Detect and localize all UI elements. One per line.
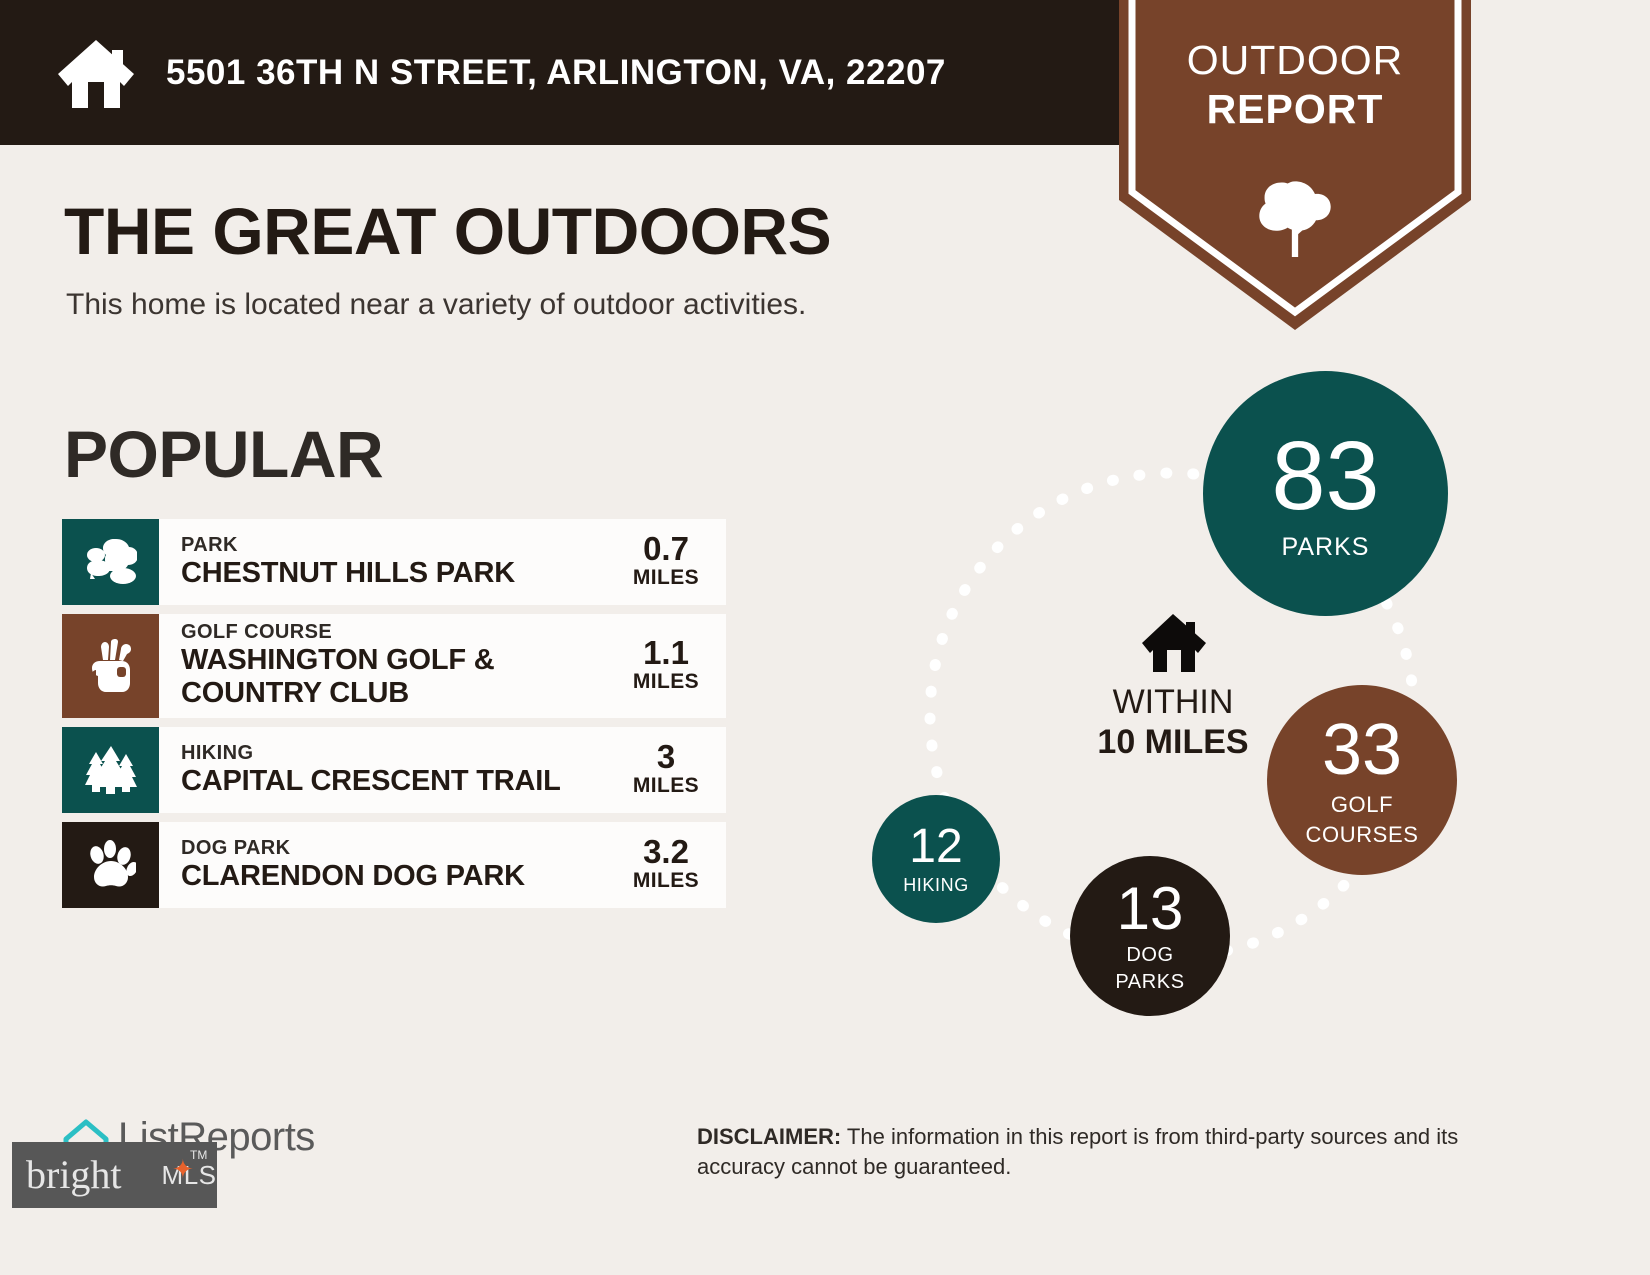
bright-mls-logo[interactable]: bright ✦ TM MLS bbox=[12, 1142, 217, 1208]
list-item-icon-tile bbox=[62, 822, 159, 908]
list-item-category: GOLF COURSE bbox=[181, 620, 618, 644]
bubble-golf-label-1: GOLF bbox=[1331, 793, 1393, 816]
list-item-icon-tile bbox=[62, 614, 159, 718]
bubble-dog-value: 13 bbox=[1117, 879, 1184, 939]
list-item-distance-value: 3.2 bbox=[618, 835, 714, 869]
list-item-text: DOG PARK CLARENDON DOG PARK bbox=[181, 836, 618, 893]
list-item-distance-unit: MILES bbox=[618, 670, 714, 694]
list-item-category: PARK bbox=[181, 533, 618, 557]
list-item-name: CAPITAL CRESCENT TRAIL bbox=[181, 765, 618, 798]
paw-print-icon bbox=[86, 840, 136, 890]
bubble-hiking-value: 12 bbox=[909, 823, 962, 871]
list-item-name: CLARENDON DOG PARK bbox=[181, 860, 618, 893]
list-item-distance-value: 1.1 bbox=[618, 636, 714, 670]
list-item-distance-unit: MILES bbox=[618, 774, 714, 798]
list-item-distance-value: 3 bbox=[618, 740, 714, 774]
list-item[interactable]: HIKING CAPITAL CRESCENT TRAIL 3 MILES bbox=[62, 727, 726, 813]
list-item-body: DOG PARK CLARENDON DOG PARK 3.2 MILES bbox=[159, 822, 726, 908]
chart-center: WITHIN 10 MILES bbox=[1028, 610, 1318, 762]
list-item-name: WASHINGTON GOLF & COUNTRY CLUB bbox=[181, 644, 618, 710]
within-10-miles-bubble-chart: 83 PARKS 33 GOLF COURSES 13 DOG PARKS 12… bbox=[820, 360, 1520, 1060]
disclaimer: DISCLAIMER: The information in this repo… bbox=[697, 1122, 1517, 1182]
bubble-golf-label-2: COURSES bbox=[1306, 823, 1419, 846]
property-address: 5501 36TH N STREET, ARLINGTON, VA, 22207 bbox=[166, 53, 946, 93]
list-item-distance-unit: MILES bbox=[618, 566, 714, 590]
page-title: THE GREAT OUTDOORS bbox=[64, 193, 831, 269]
bubble-parks-label: PARKS bbox=[1282, 534, 1370, 560]
list-item[interactable]: DOG PARK CLARENDON DOG PARK 3.2 MILES bbox=[62, 822, 726, 908]
list-item-distance-unit: MILES bbox=[618, 869, 714, 893]
bubble-parks-value: 83 bbox=[1272, 427, 1380, 524]
list-item-distance: 1.1 MILES bbox=[618, 636, 722, 694]
bubble-dog-label-2: PARKS bbox=[1115, 972, 1184, 993]
pine-trees-icon bbox=[84, 746, 138, 794]
list-item-text: GOLF COURSE WASHINGTON GOLF & COUNTRY CL… bbox=[181, 620, 618, 710]
home-icon bbox=[58, 36, 134, 110]
popular-list: PARK CHESTNUT HILLS PARK 0.7 MILES bbox=[62, 519, 726, 917]
list-item-body: PARK CHESTNUT HILLS PARK 0.7 MILES bbox=[159, 519, 726, 605]
home-icon bbox=[1028, 610, 1318, 674]
golf-bag-icon bbox=[87, 639, 135, 693]
list-item-distance: 3.2 MILES bbox=[618, 835, 722, 893]
outdoor-report-badge: OUTDOOR REPORT bbox=[1119, 0, 1471, 330]
bubble-parks: 83 PARKS bbox=[1203, 371, 1448, 616]
list-item-category: HIKING bbox=[181, 741, 618, 765]
badge-text: OUTDOOR REPORT bbox=[1119, 36, 1471, 134]
chart-center-line-2: 10 MILES bbox=[1028, 722, 1318, 762]
outdoor-report-page: 5501 36TH N STREET, ARLINGTON, VA, 22207… bbox=[0, 0, 1650, 1275]
bubble-dog-label-1: DOG bbox=[1126, 945, 1173, 966]
popular-heading: POPULAR bbox=[64, 416, 383, 492]
list-item[interactable]: PARK CHESTNUT HILLS PARK 0.7 MILES bbox=[62, 519, 726, 605]
list-item-icon-tile bbox=[62, 727, 159, 813]
bright-wordmark: bright bbox=[26, 1155, 122, 1195]
list-item-text: PARK CHESTNUT HILLS PARK bbox=[181, 533, 618, 590]
list-item-distance: 3 MILES bbox=[618, 740, 722, 798]
list-item-body: GOLF COURSE WASHINGTON GOLF & COUNTRY CL… bbox=[159, 614, 726, 718]
list-item-distance-value: 0.7 bbox=[618, 532, 714, 566]
bubble-golf-value: 33 bbox=[1322, 714, 1402, 786]
park-tree-icon bbox=[85, 537, 137, 587]
bubble-hiking-label: HIKING bbox=[903, 876, 969, 895]
header-bar: 5501 36TH N STREET, ARLINGTON, VA, 22207 bbox=[0, 0, 1187, 145]
list-item-body: HIKING CAPITAL CRESCENT TRAIL 3 MILES bbox=[159, 727, 726, 813]
list-item-name: CHESTNUT HILLS PARK bbox=[181, 557, 618, 590]
badge-line-2: REPORT bbox=[1119, 85, 1471, 134]
list-item-category: DOG PARK bbox=[181, 836, 618, 860]
disclaimer-label: DISCLAIMER: bbox=[697, 1124, 841, 1149]
bubble-dog-parks: 13 DOG PARKS bbox=[1070, 856, 1230, 1016]
list-item-icon-tile bbox=[62, 519, 159, 605]
chart-center-line-1: WITHIN bbox=[1028, 682, 1318, 722]
list-item-text: HIKING CAPITAL CRESCENT TRAIL bbox=[181, 741, 618, 798]
list-item-distance: 0.7 MILES bbox=[618, 532, 722, 590]
list-item[interactable]: GOLF COURSE WASHINGTON GOLF & COUNTRY CL… bbox=[62, 614, 726, 718]
page-subtitle: This home is located near a variety of o… bbox=[66, 288, 806, 322]
trademark-symbol: TM bbox=[190, 1148, 207, 1162]
badge-line-1: OUTDOOR bbox=[1119, 36, 1471, 85]
bubble-hiking: 12 HIKING bbox=[872, 795, 1000, 923]
